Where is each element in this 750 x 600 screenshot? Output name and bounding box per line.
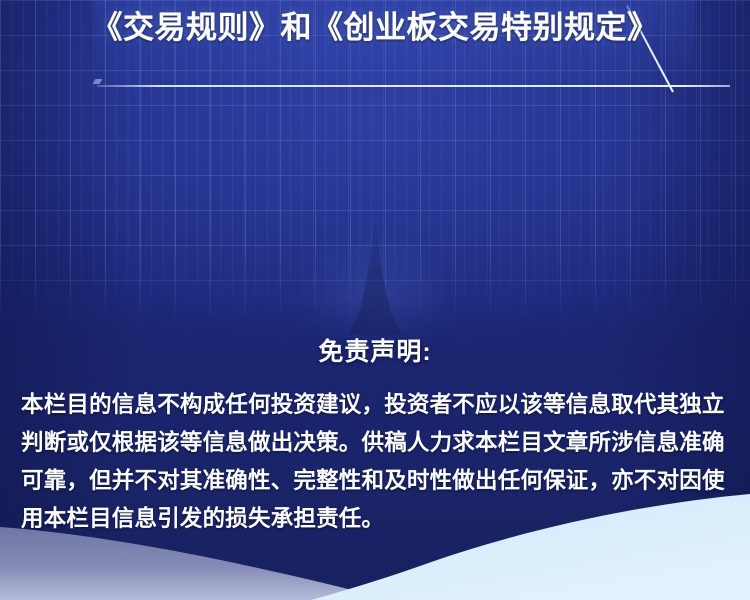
page-title: 《交易规则》和《创业板交易特别规定》	[0, 7, 750, 49]
disclaimer-heading: 免责声明:	[0, 336, 750, 368]
disclaimer-line-1: 本栏目的信息不构成任何投资建议，投资者不应以该等信息取代其独立	[21, 386, 729, 424]
slide-canvas: 《交易规则》和《创业板交易特别规定》 免责声明: 本栏目的信息不构成任何投资建议…	[0, 0, 750, 600]
disclaimer-line-2: 判断或仅根据该等信息做出决策。供稿人力求本栏目文章所涉信息准确	[21, 424, 729, 462]
disclaimer-line-4: 用本栏目信息引发的损失承担责任。	[21, 500, 729, 538]
disclaimer-body: 本栏目的信息不构成任何投资建议，投资者不应以该等信息取代其独立 判断或仅根据该等…	[21, 386, 729, 538]
banner-underline	[97, 85, 730, 87]
disclaimer-line-3: 可靠，但并不对其准确性、完整性和及时性做出任何保证，亦不对因使	[21, 462, 729, 500]
